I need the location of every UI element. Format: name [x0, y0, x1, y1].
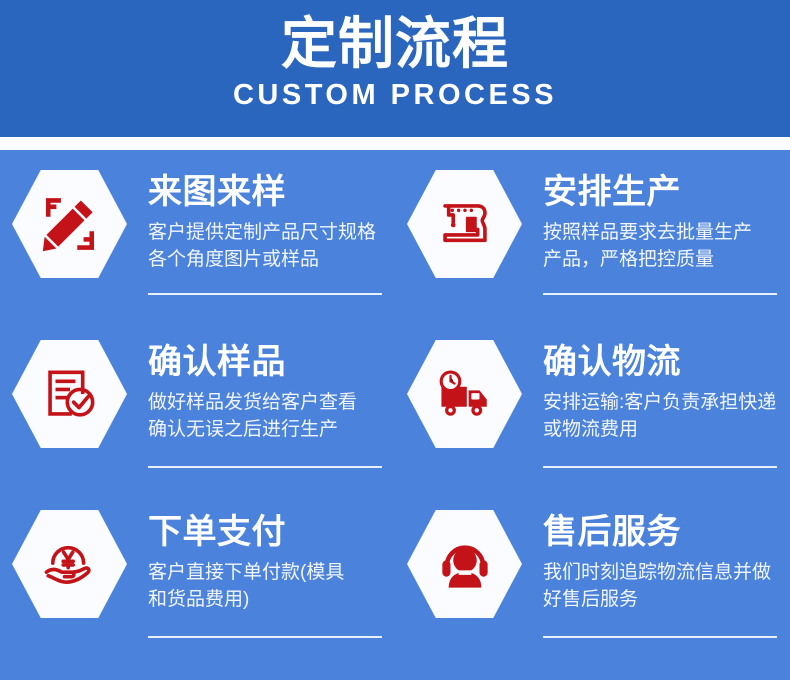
custom-process-infographic: 定制流程 CUSTOM PROCESS: [0, 0, 790, 680]
step-desc-5: 客户直接下单付款(模具 和货品费用): [148, 560, 394, 614]
step-title-6: 售后服务: [543, 512, 790, 552]
step-text-2: 安排生产 按照样品要求去批量生产 产品，严格把控质量: [522, 168, 790, 274]
step-icon-badge-3: [12, 338, 127, 450]
step-title-1: 来图来样: [148, 172, 395, 212]
process-step-card-1: 来图来样 客户提供定制产品尺寸规格 各个角度图片或样品: [0, 150, 395, 320]
step-divider-4: [543, 466, 777, 468]
step-icon-badge-5: [12, 508, 127, 620]
step-title-3: 确认样品: [148, 342, 395, 382]
document-check-icon: [41, 365, 99, 423]
step-text-4: 确认物流 安排运输:客户负责承担快递 或物流费用: [522, 338, 790, 444]
header-separator: [0, 137, 790, 150]
step-text-1: 来图来样 客户提供定制产品尺寸规格 各个角度图片或样品: [127, 168, 395, 274]
process-step-card-4: 确认物流 安排运输:客户负责承担快递 或物流费用: [395, 320, 790, 490]
step-desc-4: 安排运输:客户负责承担快递 或物流费用: [543, 390, 789, 444]
process-step-card-5: 下单支付 客户直接下单付款(模具 和货品费用): [0, 490, 395, 680]
step-divider-5: [148, 636, 382, 638]
step-text-5: 下单支付 客户直接下单付款(模具 和货品费用): [127, 508, 395, 614]
step-desc-3: 做好样品发货给客户查看 确认无误之后进行生产: [148, 390, 394, 444]
step-divider-1: [148, 293, 382, 295]
sewing-machine-icon: [436, 195, 494, 253]
step-icon-badge-1: [12, 168, 127, 280]
headset-support-icon: [436, 535, 494, 593]
step-title-5: 下单支付: [148, 512, 395, 552]
step-divider-6: [543, 636, 777, 638]
step-desc-2: 按照样品要求去批量生产 产品，严格把控质量: [543, 220, 789, 274]
step-divider-2: [543, 293, 777, 295]
step-divider-3: [148, 466, 382, 468]
step-text-6: 售后服务 我们时刻追踪物流信息并做 好售后服务: [522, 508, 790, 614]
process-step-card-3: 确认样品 做好样品发货给客户查看 确认无误之后进行生产: [0, 320, 395, 490]
step-desc-1: 客户提供定制产品尺寸规格 各个角度图片或样品: [148, 220, 394, 274]
step-title-4: 确认物流: [543, 342, 790, 382]
process-step-card-6: 售后服务 我们时刻追踪物流信息并做 好售后服务: [395, 490, 790, 680]
pencil-ruler-icon: [41, 195, 99, 253]
step-icon-badge-4: [407, 338, 522, 450]
delivery-truck-clock-icon: [436, 365, 494, 423]
step-icon-badge-2: [407, 168, 522, 280]
page-subtitle: CUSTOM PROCESS: [233, 80, 557, 112]
step-desc-6: 我们时刻追踪物流信息并做 好售后服务: [543, 560, 789, 614]
hand-yuan-coin-icon: [41, 535, 99, 593]
step-text-3: 确认样品 做好样品发货给客户查看 确认无误之后进行生产: [127, 338, 395, 444]
step-title-2: 安排生产: [543, 172, 790, 212]
process-step-card-2: 安排生产 按照样品要求去批量生产 产品，严格把控质量: [395, 150, 790, 320]
step-icon-badge-6: [407, 508, 522, 620]
page-title: 定制流程: [281, 12, 509, 76]
process-step-grid: 来图来样 客户提供定制产品尺寸规格 各个角度图片或样品: [0, 150, 790, 680]
page-header: 定制流程 CUSTOM PROCESS: [0, 0, 790, 137]
